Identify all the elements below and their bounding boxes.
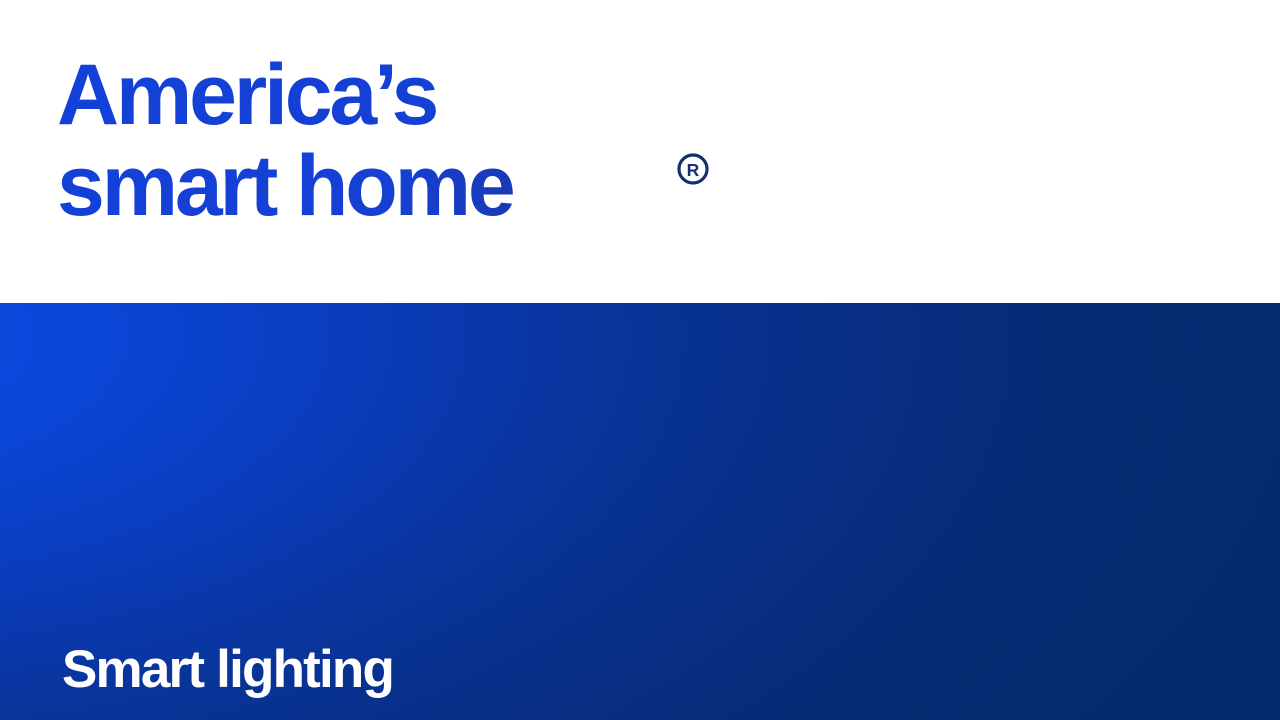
- slide-canvas: America’s smart home R Smart lighting It…: [0, 0, 1280, 720]
- brand-band: America’s smart home R: [0, 0, 1280, 303]
- brand-line-smart-home: smart home: [57, 141, 757, 232]
- svg-text:R: R: [687, 160, 700, 180]
- content-panel: Smart lighting It’s included. Bring your…: [0, 303, 1280, 720]
- brand-lockup: America’s smart home: [57, 50, 757, 232]
- brand-line-americas: America’s: [57, 50, 757, 141]
- registered-trademark-icon: R: [677, 153, 709, 185]
- page-title: Smart lighting: [62, 641, 393, 699]
